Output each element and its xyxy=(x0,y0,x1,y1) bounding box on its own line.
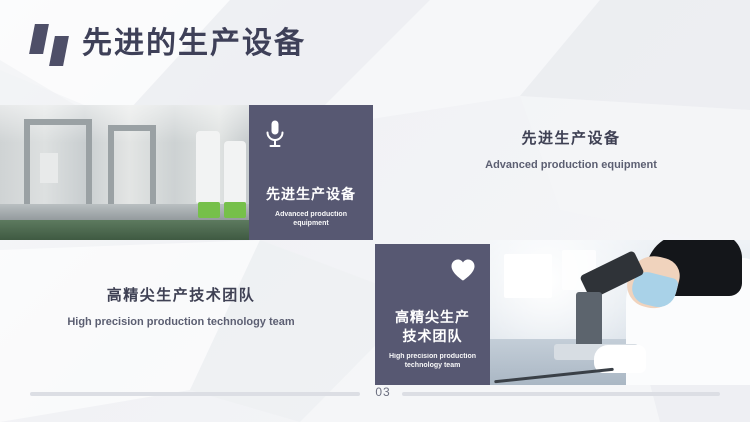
slide-header: 先进的生产设备 xyxy=(0,0,750,92)
photo-detail xyxy=(196,131,220,203)
card-title-en: High precision production technology tea… xyxy=(383,352,482,370)
footer-rule-left xyxy=(30,392,360,396)
page-number: 03 xyxy=(366,385,400,399)
textblock-title-en: Advanced production equipment xyxy=(448,158,694,173)
textblock-advanced-equipment: 先进生产设备 Advanced production equipment xyxy=(448,128,694,173)
photo-detail xyxy=(0,220,249,240)
slide-footer: 03 xyxy=(0,388,750,402)
card-text-group: 先进生产设备 Advanced production equipment xyxy=(249,185,373,228)
photo-factory-production-line xyxy=(0,105,249,240)
photo-detail xyxy=(198,202,220,218)
photo-detail xyxy=(504,254,552,298)
page-title: 先进的生产设备 xyxy=(82,22,306,66)
textblock-title-en: High precision production technology tea… xyxy=(58,315,304,330)
textblock-precision-team: 高精尖生产技术团队 High precision production tech… xyxy=(58,285,304,330)
card-text-group: 高精尖生产 技术团队 High precision production tec… xyxy=(375,308,490,370)
card-advanced-equipment[interactable]: 先进生产设备 Advanced production equipment xyxy=(249,105,373,240)
logo-bar-right xyxy=(49,36,69,66)
textblock-title-cn: 先进生产设备 xyxy=(448,128,694,150)
photo-detail xyxy=(108,125,156,131)
card-title-en: Advanced production equipment xyxy=(257,210,365,228)
textblock-title-cn: 高精尖生产技术团队 xyxy=(58,285,304,307)
slide-canvas: 先进的生产设备 先进生产设备 Advanced production equ xyxy=(0,0,750,422)
photo-detail xyxy=(576,292,602,350)
heart-icon xyxy=(450,258,476,286)
card-title-cn: 高精尖生产 技术团队 xyxy=(383,308,482,346)
slanted-bars-logo-icon xyxy=(30,24,74,66)
photo-detail xyxy=(40,153,58,183)
card-precision-team[interactable]: 高精尖生产 技术团队 High precision production tec… xyxy=(375,244,490,385)
card-title-cn: 先进生产设备 xyxy=(257,185,365,204)
photo-lab-microscope xyxy=(490,240,750,385)
photo-detail xyxy=(224,141,246,203)
footer-rule-right xyxy=(402,392,720,396)
logo-bar-left xyxy=(29,24,49,54)
microphone-icon xyxy=(263,119,287,153)
photo-detail xyxy=(24,119,92,125)
photo-detail xyxy=(224,202,246,218)
